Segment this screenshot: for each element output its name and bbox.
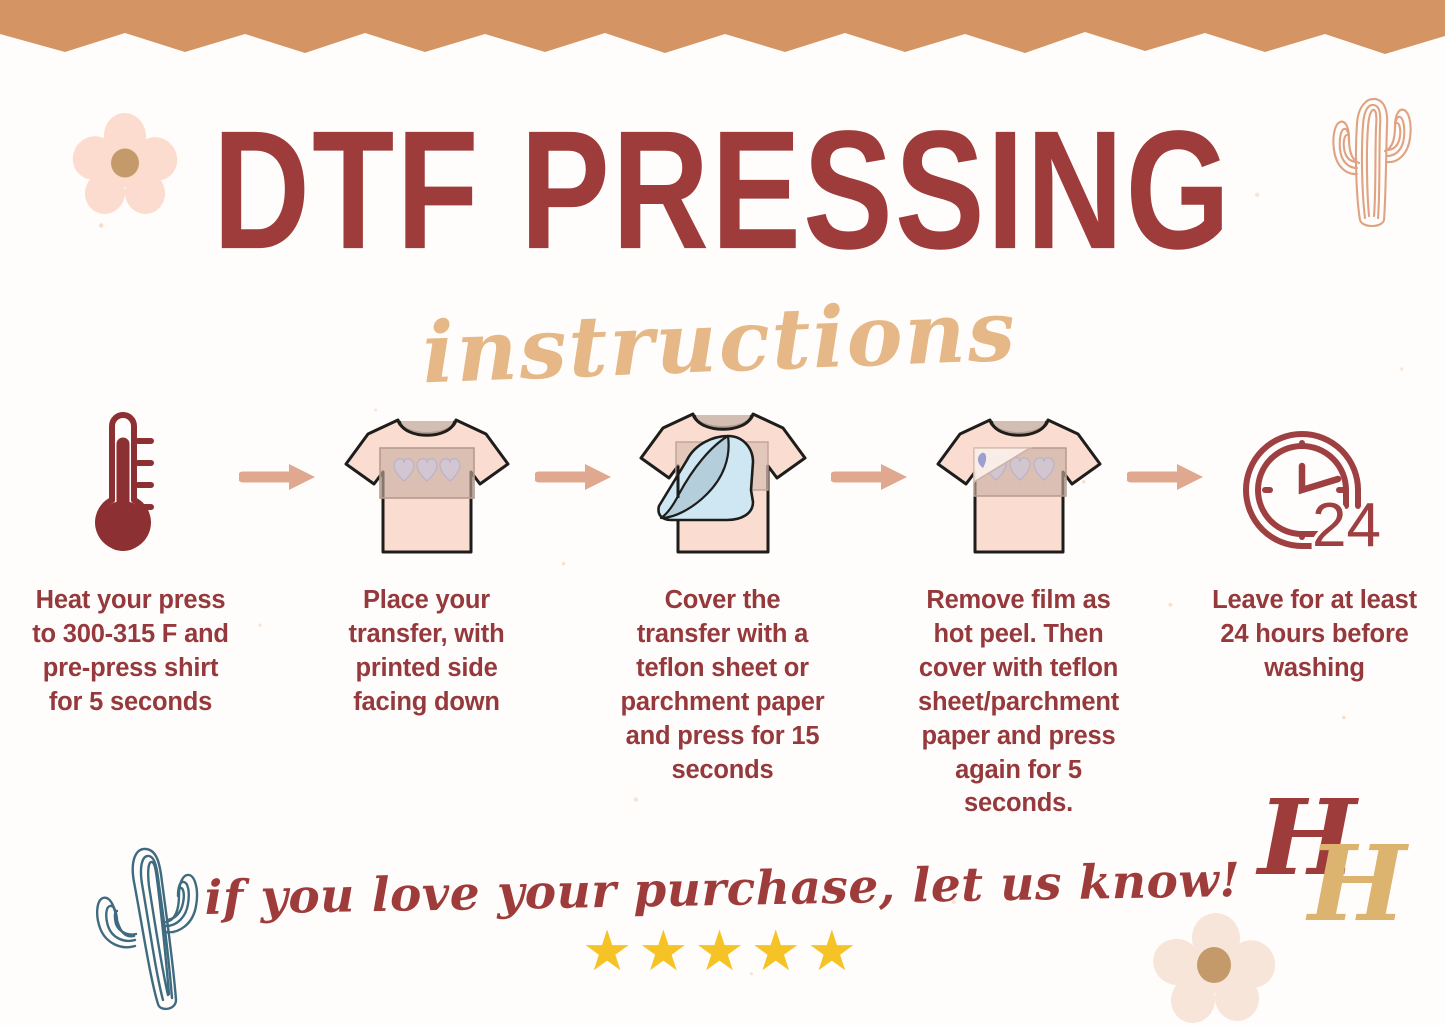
arrow-2 (533, 392, 617, 562)
page-title: DTF PRESSING (0, 106, 1445, 275)
tshirt-covered-teflon-icon (631, 402, 815, 562)
tshirt-peel-film-icon (930, 410, 1108, 562)
step-3-text: Cover the transfer with a teflon sheet o… (617, 584, 829, 787)
thermometer-icon (85, 397, 177, 562)
step-5-icon-wrap: 24 (1240, 392, 1390, 562)
step-2-icon-wrap (338, 392, 516, 562)
title-block: DTF PRESSING instructions (0, 88, 1445, 384)
step-2-text: Place your transfer, with printed side f… (321, 584, 533, 720)
step-5-text: Leave for at least 24 hours before washi… (1209, 584, 1421, 686)
clock-24-icon: 24 (1240, 416, 1390, 562)
arrow-right-icon (1127, 462, 1207, 492)
footer-tagline: if you love your purchase, let us know! (0, 849, 1445, 929)
step-2: Place your transfer, with printed side f… (321, 392, 533, 720)
step-5: 24 Leave for at least 24 hours before wa… (1209, 392, 1421, 686)
arrow-right-icon (535, 462, 615, 492)
arrow-4 (1125, 392, 1209, 562)
step-1: Heat your press to 300-315 F and pre-pre… (25, 392, 237, 720)
arrow-right-icon (239, 462, 319, 492)
arrow-1 (237, 392, 321, 562)
arrow-3 (829, 392, 913, 562)
clock-24-label: 24 (1312, 491, 1381, 560)
page-subtitle: instructions (0, 272, 1440, 411)
top-zigzag-band (0, 0, 1445, 62)
step-3-icon-wrap (631, 392, 815, 562)
step-3: Cover the transfer with a teflon sheet o… (617, 392, 829, 787)
step-4-text: Remove film as hot peel. Then cover with… (913, 584, 1125, 821)
footer-block: if you love your purchase, let us know! … (0, 862, 1445, 979)
step-4: Remove film as hot peel. Then cover with… (913, 392, 1125, 821)
step-4-icon-wrap (930, 392, 1108, 562)
step-1-text: Heat your press to 300-315 F and pre-pre… (25, 584, 237, 720)
tshirt-with-transfer-icon (338, 410, 516, 562)
arrow-right-icon (831, 462, 911, 492)
step-1-icon-wrap (85, 392, 177, 562)
steps-row: Heat your press to 300-315 F and pre-pre… (0, 392, 1445, 821)
star-rating: ★★★★★ (0, 923, 1445, 979)
poster-canvas: H H DTF PRESSING instructions (0, 0, 1445, 1025)
